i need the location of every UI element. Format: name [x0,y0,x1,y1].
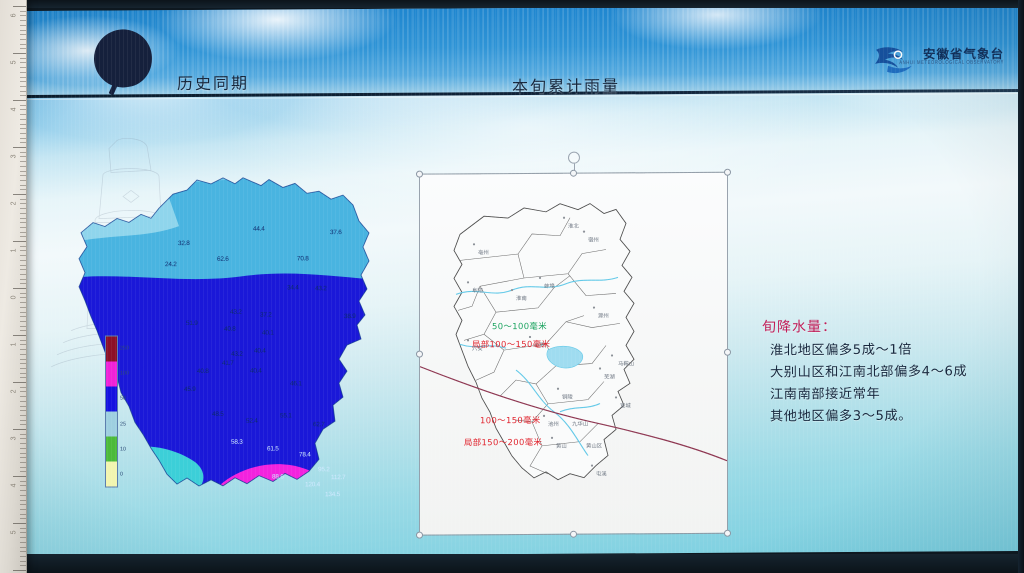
ruler-label: 3 [11,155,18,159]
ruler-minor-tick [20,391,26,392]
ruler-minor-tick [20,509,26,510]
ruler-minor-tick [20,199,26,200]
ruler-minor-tick [20,255,26,256]
ruler-minor-tick [20,152,26,153]
station-value: 44.4 [253,226,265,233]
ruler-minor-tick [20,105,26,106]
ruler-minor-tick [20,48,26,49]
ruler-minor-tick [20,340,26,341]
ruler-minor-tick [20,91,26,92]
ruler-label: 3 [11,437,18,441]
summary-heading: 旬降水量： [762,315,1017,337]
ruler-minor-tick [20,307,26,308]
ruler-minor-tick [20,95,26,96]
ruler-minor-tick [20,302,26,303]
rainfall-legend: 0102550100250 [95,335,129,487]
ruler-minor-tick [20,283,26,284]
ruler-minor-tick [20,410,26,411]
legend-tick: 100 [120,370,129,376]
station-value: 78.4 [299,451,311,458]
ruler-minor-tick [20,227,26,228]
station-value: 40.4 [250,368,262,375]
resize-handle-middle-right[interactable] [724,349,731,356]
station-value: 62.6 [217,256,229,263]
legend-segment [106,361,117,386]
ruler-minor-tick [20,481,26,482]
ruler-minor-tick [20,114,26,115]
ruler-minor-tick [20,25,26,26]
ruler-major-tick [13,288,26,289]
ruler-minor-tick [20,161,26,162]
station-value: 34.4 [287,284,299,291]
resize-handle-bottom-right[interactable] [724,530,731,537]
station-value: 112.7 [331,474,346,481]
resize-handle-top-right[interactable] [724,169,731,176]
rainfall-analysis-map[interactable]: 32.844.437.624.262.670.834.443.243.237.2… [47,129,437,551]
ruler-label: 2 [11,202,18,206]
ruler-minor-tick [20,532,26,533]
resize-handle-bottom-left[interactable] [416,532,423,539]
precipitation-summary: 旬降水量： 淮北地区偏多5成～1倍大别山区和江南北部偏多4～6成江南南部接近常年… [762,315,1017,429]
station-value: 61.5 [267,445,279,452]
station-value: 24.2 [165,261,177,268]
ruler-minor-tick [20,77,26,78]
ruler-minor-tick [20,260,26,261]
legend-color-bar [105,335,118,487]
ruler-minor-tick [20,368,26,369]
ruler-minor-tick [20,349,26,350]
station-value: 40.1 [262,330,274,337]
slide-logo-mark [85,26,163,92]
ruler-minor-tick [20,293,26,294]
ruler-minor-tick [20,490,26,491]
ruler-major-tick [13,335,26,336]
ruler-minor-tick [20,504,26,505]
photo-bottom-surround [0,554,1024,573]
station-value: 37.6 [330,229,342,236]
station-value: 88.6 [272,473,284,480]
ruler-minor-tick [20,377,26,378]
ruler-minor-tick [20,72,26,73]
legend-segment [106,336,117,361]
ruler-minor-tick [20,471,26,472]
photo-top-surround [0,0,1024,8]
ruler-minor-tick [20,359,26,360]
ruler-minor-tick [20,373,26,374]
station-value: 51.9 [186,320,198,327]
ruler-minor-tick [20,119,26,120]
resize-handle-middle-left[interactable] [416,351,423,358]
ruler-minor-tick [20,208,26,209]
ruler-minor-tick [20,321,26,322]
ruler-minor-tick [20,344,26,345]
station-value: 41.7 [222,360,234,367]
legend-tick: 0 [120,472,123,478]
ruler-major-tick [13,382,26,383]
ruler-minor-tick [20,138,26,139]
anhui-meteorological-logo: 安徽省气象台 ANHUI METEOROLOGICAL OBSERVATORY [872,39,1004,80]
ruler-minor-tick [20,250,26,251]
ruler-minor-tick [20,232,26,233]
summary-line: 江南南部接近常年 [762,383,1017,407]
ruler-minor-tick [20,406,26,407]
resize-handle-top-left[interactable] [416,171,423,178]
ruler-minor-tick [20,443,26,444]
ruler-minor-tick [20,124,26,125]
ruler-label: 6 [11,14,18,18]
summary-line: 大别山区和江南北部偏多4～6成 [762,361,1017,385]
logo-brand-subtitle: ANHUI METEOROLOGICAL OBSERVATORY [899,58,1004,65]
station-value: 40.4 [254,348,266,355]
ruler-minor-tick [20,15,26,16]
ruler-minor-tick [20,420,26,421]
ruler-label: 4 [11,108,18,112]
physical-ruler: 65432101234567 [0,0,27,573]
summary-lines: 淮北地区偏多5成～1倍大别山区和江南北部偏多4～6成江南南部接近常年其他地区偏多… [762,339,1017,429]
ruler-minor-tick [20,20,26,21]
ruler-minor-tick [20,274,26,275]
ruler-major-tick [13,194,26,195]
station-value: 43.2 [231,351,243,358]
ruler-minor-tick [20,128,26,129]
ruler-minor-tick [20,11,26,12]
ruler-minor-tick [20,495,26,496]
resize-handle-bottom-center[interactable] [570,531,577,538]
station-value: 95.2 [318,466,330,473]
ruler-minor-tick [20,39,26,40]
station-value: 120.4 [305,481,320,488]
forecast-map-object[interactable]: 亳州淮北宿州阜阳蚌埠淮南六安合肥滁州马鞍山芜湖铜陵宣城池州九华山黄山黄山区屯溪 … [420,173,727,535]
ruler-label: 1 [11,249,18,253]
ruler-minor-tick [20,30,26,31]
station-value: 40.8 [197,368,209,375]
station-value: 43.2 [315,285,327,292]
rotate-handle[interactable] [568,152,580,164]
ruler-minor-tick [20,156,26,157]
ruler-minor-tick [20,265,26,266]
ruler-minor-tick [20,518,26,519]
legend-segment [106,436,117,461]
ruler-label: 4 [11,484,18,488]
ruler-minor-tick [20,86,26,87]
ruler-major-tick [13,429,26,430]
ruler-minor-tick [20,396,26,397]
ruler-minor-tick [20,485,26,486]
ruler-major-tick [13,147,26,148]
ruler-minor-tick [20,203,26,204]
ruler-minor-tick [20,467,26,468]
ruler-minor-tick [20,58,26,59]
ruler-minor-tick [20,44,26,45]
legend-segment [106,461,117,486]
ruler-minor-tick [20,457,26,458]
ruler-minor-tick [20,218,26,219]
legend-tick: 250 [120,345,129,351]
ruler-minor-tick [20,565,26,566]
ruler-major-tick [13,6,26,7]
header-title-main: 本旬累计雨量 [512,72,620,97]
ruler-minor-tick [20,185,26,186]
ruler-major-tick [13,53,26,54]
ruler-minor-tick [20,448,26,449]
ruler-minor-tick [20,537,26,538]
ruler-major-tick [13,100,26,101]
ruler-minor-tick [20,236,26,237]
station-value: 58.3 [231,439,243,446]
ruler-minor-tick [20,434,26,435]
ruler-minor-tick [20,175,26,176]
ruler-minor-tick [20,34,26,35]
legend-tick: 10 [120,446,126,452]
photo-right-surround [1018,0,1024,573]
summary-line: 其他地区偏多3～5成。 [762,405,1017,429]
ruler-minor-tick [20,438,26,439]
station-value: 40.8 [224,326,236,333]
station-value: 46.1 [290,380,302,387]
header-title-left: 历史同期 [177,70,249,94]
ruler-edge-line [26,0,27,573]
station-value: 134.5 [325,491,340,498]
station-value: 45.9 [184,386,196,393]
station-value: 43.2 [230,309,242,316]
ruler-label: 5 [11,61,18,65]
ruler-minor-tick [20,213,26,214]
selection-frame [420,173,727,535]
ruler-minor-tick [20,142,26,143]
ruler-minor-tick [20,551,26,552]
ruler-minor-tick [20,424,26,425]
ruler-minor-tick [20,363,26,364]
legend-segment [106,411,117,436]
station-value: 55.1 [280,412,292,419]
ruler-minor-tick [20,222,26,223]
ruler-minor-tick [20,556,26,557]
ruler-minor-tick [20,354,26,355]
station-value: 37.2 [260,312,272,319]
station-value: 52.4 [246,418,258,425]
ruler-minor-tick [20,547,26,548]
ruler-minor-tick [20,330,26,331]
presentation-slide: 历史同期 本旬累计雨量 安徽省气象台 ANHUI METEOROLOGICAL … [27,5,1018,557]
ruler-minor-tick [20,109,26,110]
ruler-minor-tick [20,500,26,501]
summary-line: 淮北地区偏多5成～1倍 [762,339,1017,363]
ruler-major-tick [13,241,26,242]
ruler-minor-tick [20,171,26,172]
ruler-minor-tick [20,316,26,317]
ruler-minor-tick [20,561,26,562]
ruler-minor-tick [20,269,26,270]
ruler-minor-tick [20,312,26,313]
ruler-minor-tick [20,62,26,63]
ruler-minor-tick [20,279,26,280]
station-value: 32.8 [178,240,190,247]
ruler-minor-tick [20,297,26,298]
ruler-minor-tick [20,453,26,454]
ruler-minor-tick [20,542,26,543]
ruler-minor-tick [20,81,26,82]
ruler-minor-tick [20,166,26,167]
photographed-projection-screen: 历史同期 本旬累计雨量 安徽省气象台 ANHUI METEOROLOGICAL … [0,0,1024,573]
station-value: 38.9 [344,313,356,320]
ruler-label: 0 [11,296,18,300]
ruler-minor-tick [20,67,26,68]
station-value: 62.7 [313,421,325,428]
resize-handle-top-center[interactable] [570,170,577,177]
ruler-major-tick [13,523,26,524]
ruler-major-tick [13,476,26,477]
ruler-minor-tick [20,246,26,247]
ruler-minor-tick [20,415,26,416]
ruler-label: 5 [11,531,18,535]
ruler-minor-tick [20,189,26,190]
ruler-label: 2 [11,390,18,394]
ruler-minor-tick [20,514,26,515]
ruler-minor-tick [20,133,26,134]
ruler-minor-tick [20,401,26,402]
ruler-minor-tick [20,387,26,388]
ruler-minor-tick [20,528,26,529]
legend-tick: 25 [120,421,126,427]
station-value: 48.5 [212,411,224,418]
station-value: 70.8 [297,255,309,262]
ruler-minor-tick [20,462,26,463]
ruler-label: 1 [11,343,18,347]
ruler-minor-tick [20,180,26,181]
ruler-major-tick [13,570,26,571]
ruler-minor-tick [20,326,26,327]
legend-tick: 50 [120,396,126,402]
legend-segment [106,386,117,411]
